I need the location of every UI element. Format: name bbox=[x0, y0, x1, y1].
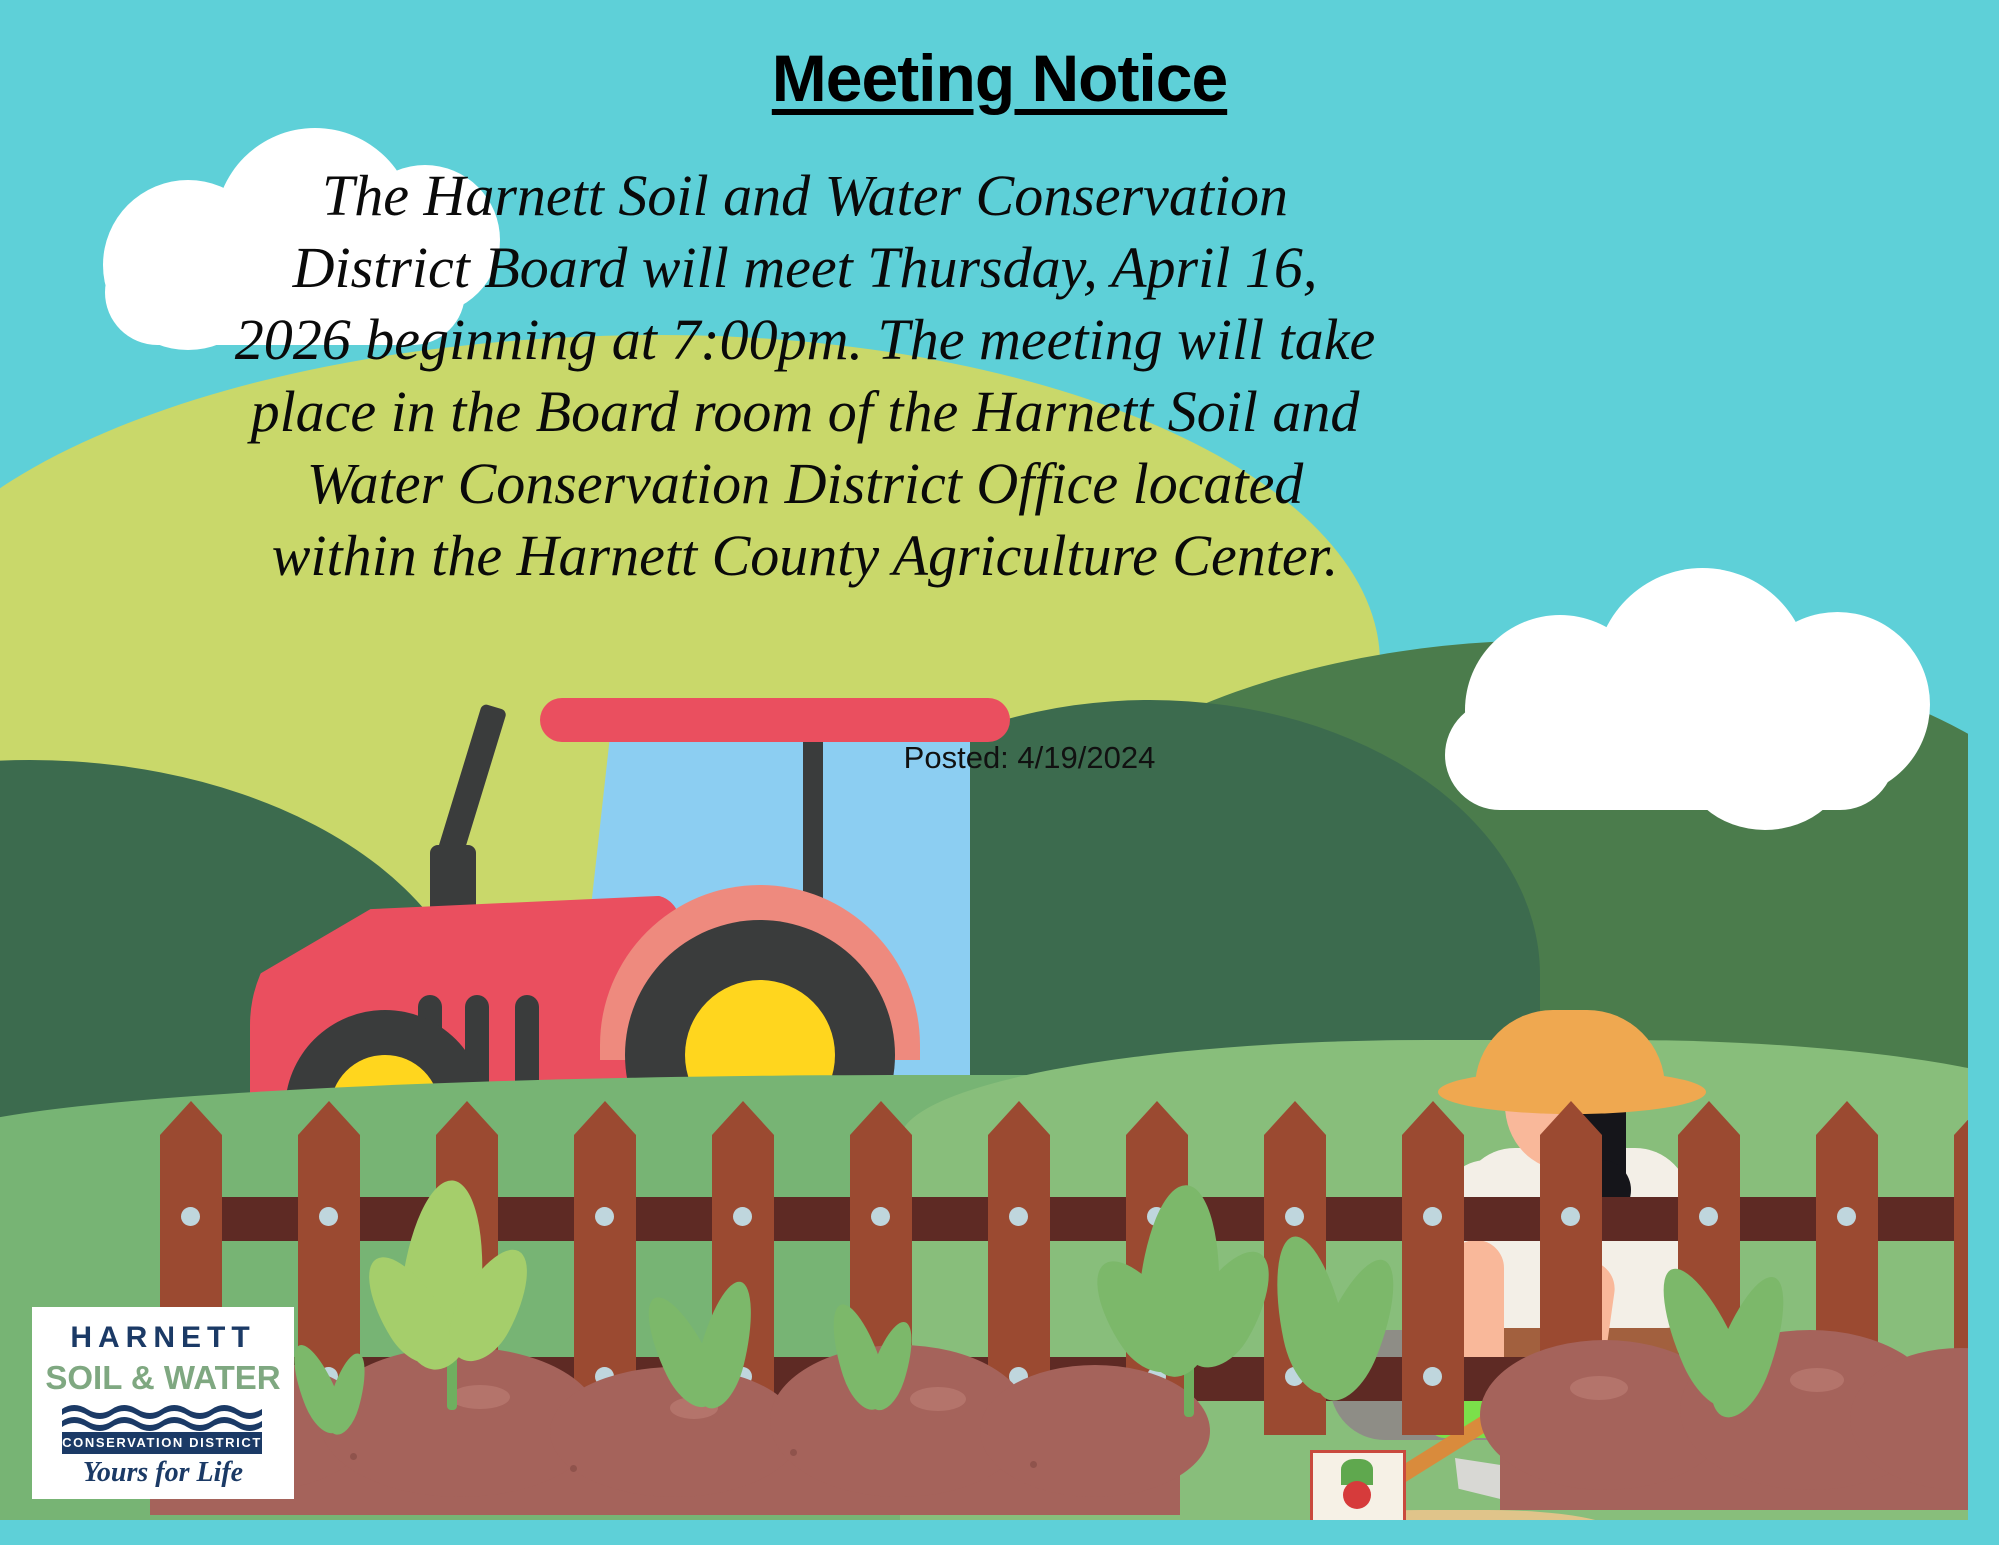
plant-sprout bbox=[290, 1330, 380, 1440]
meeting-notice-poster: HARNETT SOIL & WATER CONSERVATION DISTRI… bbox=[0, 0, 1999, 1545]
fence-screw bbox=[1561, 1207, 1580, 1226]
fence-screw bbox=[595, 1207, 614, 1226]
logo-line-harnett: HARNETT bbox=[32, 1321, 294, 1355]
fence-screw bbox=[319, 1207, 338, 1226]
plant-sprout bbox=[375, 1180, 535, 1410]
plant-sprout bbox=[1100, 1185, 1280, 1420]
logo-tagline: Yours for Life bbox=[32, 1457, 294, 1489]
fence-screw bbox=[1423, 1207, 1442, 1226]
fence-screw bbox=[1699, 1207, 1718, 1226]
logo-line-soil-water: SOIL & WATER bbox=[32, 1359, 294, 1397]
fence-screw bbox=[733, 1207, 752, 1226]
cloud-icon-right bbox=[1425, 560, 1945, 825]
fence-screw bbox=[181, 1207, 200, 1226]
page-title: Meeting Notice bbox=[0, 40, 1999, 116]
plant-sprout bbox=[640, 1270, 790, 1420]
fence-screw bbox=[871, 1207, 890, 1226]
fence-screw bbox=[1423, 1367, 1442, 1386]
plant-sprout bbox=[1648, 1255, 1818, 1445]
harnett-soil-water-logo: HARNETT SOIL & WATER CONSERVATION DISTRI… bbox=[32, 1307, 294, 1499]
tractor-cab-roof bbox=[540, 698, 1010, 742]
fence-screw bbox=[1009, 1207, 1028, 1226]
notice-body-text: The Harnett Soil and Water Conservation … bbox=[230, 160, 1380, 592]
plant-sprout bbox=[1255, 1225, 1415, 1425]
logo-line-conservation-district: CONSERVATION DISTRICT bbox=[62, 1432, 262, 1454]
exhaust-pipe-upper bbox=[436, 703, 508, 864]
fence-screw bbox=[1837, 1207, 1856, 1226]
posted-date: Posted: 4/19/2024 bbox=[0, 740, 1999, 776]
water-waves-icon bbox=[62, 1402, 262, 1432]
seed-packet-icon bbox=[1310, 1450, 1406, 1520]
plant-sprout bbox=[818, 1290, 938, 1420]
fence-screw bbox=[1285, 1207, 1304, 1226]
